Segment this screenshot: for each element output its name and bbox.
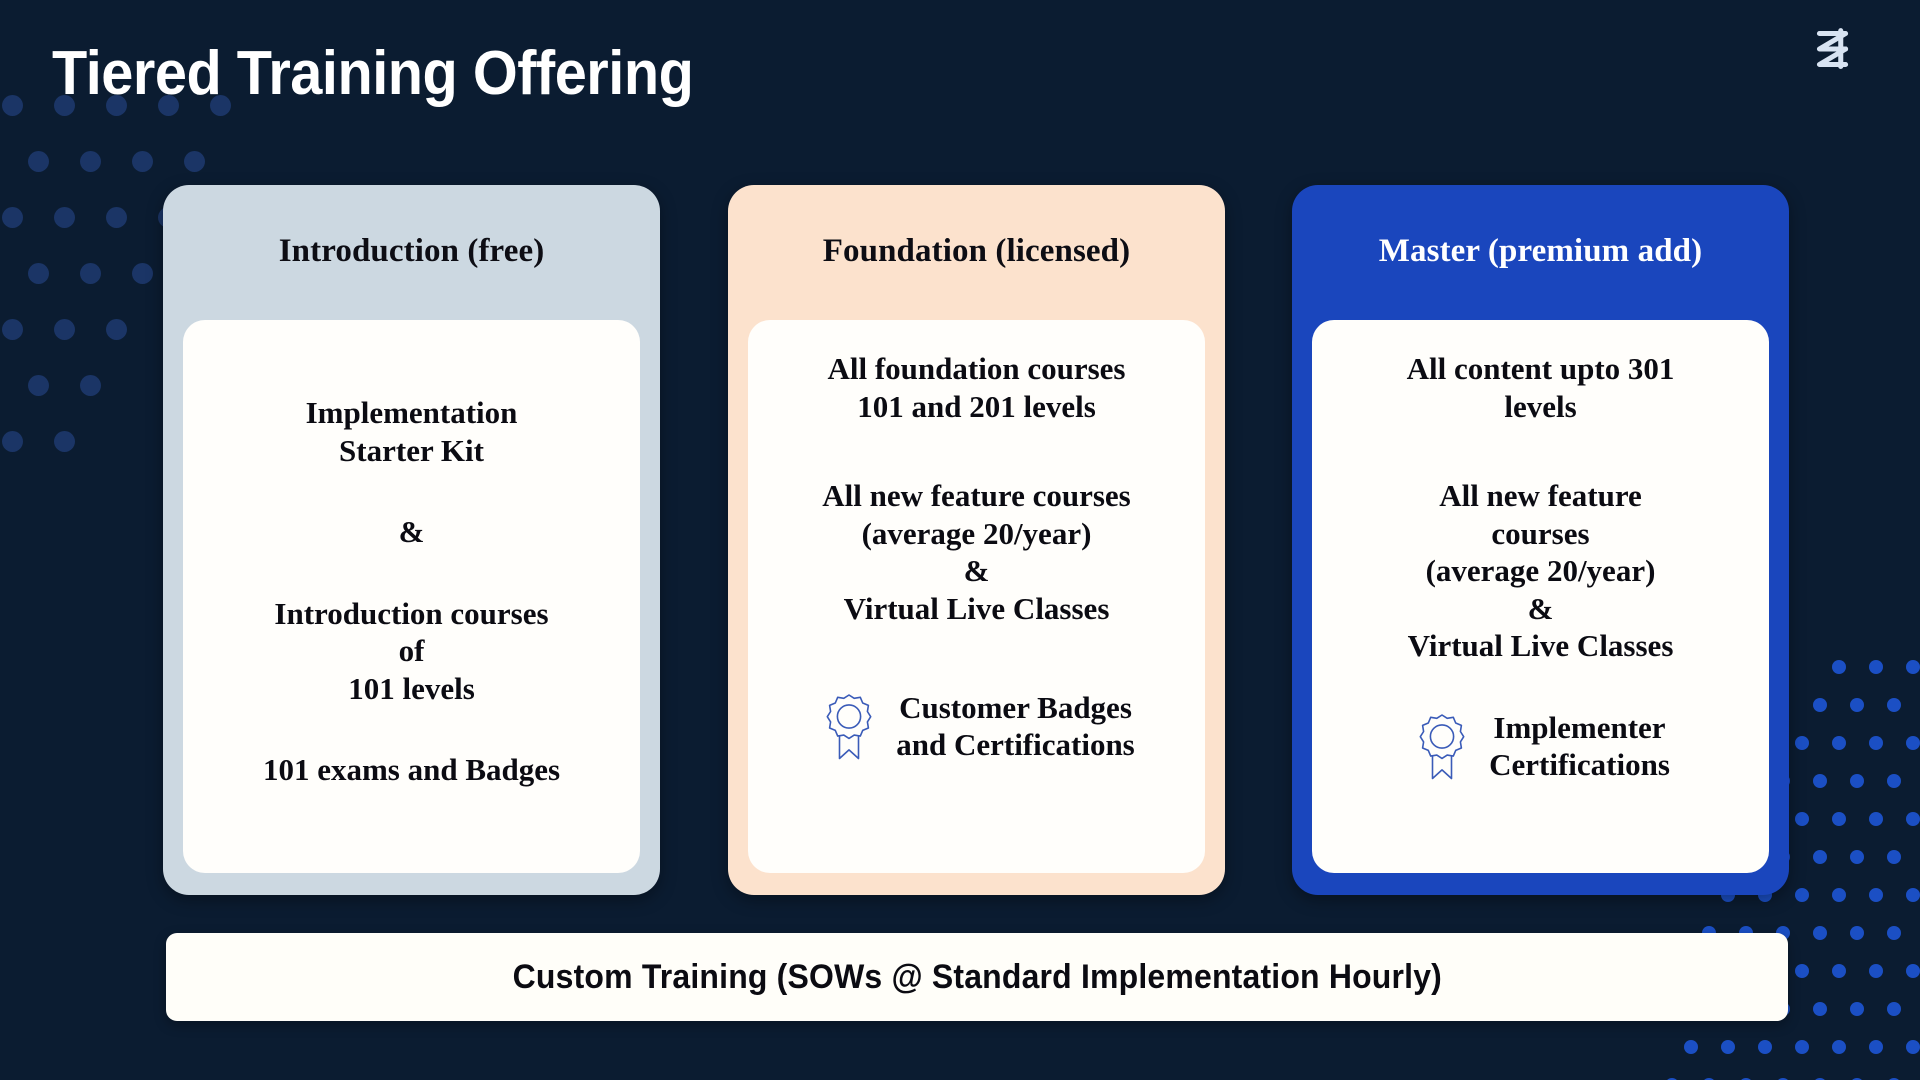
tier-feature-block: & (201, 513, 622, 551)
tier-feature-block: Introduction courses of 101 levels (201, 595, 622, 708)
certification-badge-icon (1411, 711, 1473, 781)
slide-root: Tiered Training Offering Introduction (f… (0, 0, 1920, 1080)
tier-card-master[interactable]: Master (premium add) All content upto 30… (1292, 185, 1789, 895)
custom-training-bar[interactable]: Custom Training (SOWs @ Standard Impleme… (166, 933, 1788, 1021)
decorative-dot (1906, 1040, 1920, 1054)
tier-feature-block: All new feature courses (average 20/year… (1330, 477, 1751, 665)
decorative-dot (1684, 1040, 1698, 1054)
tier-card-body-introduction: Implementation Starter Kit & Introductio… (183, 320, 640, 873)
certification-badge-icon (818, 691, 880, 761)
tier-card-introduction[interactable]: Introduction (free) Implementation Start… (163, 185, 660, 895)
zuora-logo (1802, 18, 1864, 80)
tier-feature-block: All new feature courses (average 20/year… (766, 477, 1187, 627)
page-title: Tiered Training Offering (52, 38, 693, 109)
certification-badge-row: Implementer Certifications (1330, 709, 1751, 783)
decorative-dot (1906, 964, 1920, 978)
decorative-dot (184, 151, 205, 172)
tier-feature-block: All content upto 301 levels (1330, 350, 1751, 425)
tier-card-body-master: All content upto 301 levels All new feat… (1312, 320, 1769, 873)
certification-badge-label: Customer Badges and Certifications (896, 689, 1135, 763)
tier-feature-block: 101 exams and Badges (201, 751, 622, 789)
decorative-dot (80, 151, 101, 172)
tier-feature-block: Implementation Starter Kit (201, 394, 622, 469)
tier-card-title-foundation: Foundation (licensed) (728, 233, 1225, 270)
decorative-dot (1721, 1040, 1735, 1054)
tier-feature-block: All foundation courses 101 and 201 level… (766, 350, 1187, 425)
decorative-dot (1832, 1040, 1846, 1054)
tier-card-foundation[interactable]: Foundation (licensed) All foundation cou… (728, 185, 1225, 895)
decorative-dot (1832, 964, 1846, 978)
tier-card-title-master: Master (premium add) (1292, 233, 1789, 270)
decorative-dot (1813, 1002, 1827, 1016)
tier-card-body-foundation: All foundation courses 101 and 201 level… (748, 320, 1205, 873)
decorative-dot (132, 151, 153, 172)
decorative-dot (1887, 926, 1901, 940)
decorative-dot (1850, 926, 1864, 940)
decorative-dot (28, 151, 49, 172)
tier-card-row: Introduction (free) Implementation Start… (0, 185, 1920, 895)
certification-badge-row: Customer Badges and Certifications (766, 689, 1187, 763)
certification-badge-label: Implementer Certifications (1489, 709, 1670, 783)
decorative-dot (1850, 1002, 1864, 1016)
decorative-dot (1869, 964, 1883, 978)
decorative-dot (1795, 964, 1809, 978)
decorative-dot (1869, 1040, 1883, 1054)
tier-card-title-introduction: Introduction (free) (163, 233, 660, 270)
decorative-dot (2, 95, 23, 116)
decorative-dot (1887, 1002, 1901, 1016)
decorative-dot (1795, 1040, 1809, 1054)
decorative-dot (1758, 1040, 1772, 1054)
decorative-dot (1813, 926, 1827, 940)
custom-training-label: Custom Training (SOWs @ Standard Impleme… (512, 958, 1441, 997)
